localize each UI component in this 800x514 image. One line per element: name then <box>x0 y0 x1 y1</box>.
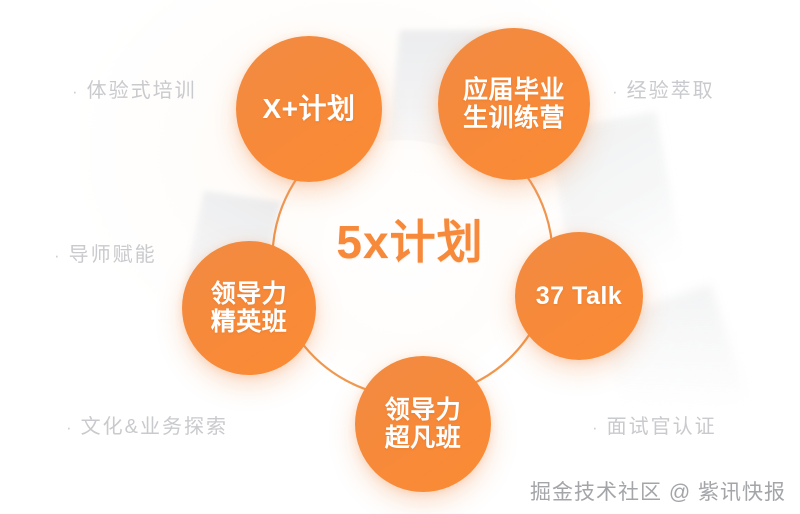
outer-label-culture-business-exploration: ·文化&业务探索 <box>66 410 228 439</box>
outer-label-interviewer-certification: ·面试官认证 <box>592 410 717 439</box>
center-title: 5x计划 <box>320 206 500 272</box>
node-x-plan-label: X+计划 <box>256 93 361 124</box>
bullet-dot-icon: · <box>592 418 600 437</box>
bullet-dot-icon: · <box>54 246 62 265</box>
watermark: 掘金技术社区 @ 紫讯快报 <box>530 476 786 506</box>
node-x-plan[interactable]: X+计划 <box>236 36 382 182</box>
diagram-canvas: X+计划 应届毕业生训练营 领导力精英班 37 Talk 领导力超凡班 5x计划… <box>0 0 800 514</box>
node-37-talk[interactable]: 37 Talk <box>515 232 643 360</box>
bullet-dot-icon: · <box>66 418 74 437</box>
outer-label-experience-extraction-text: 经验萃取 <box>627 80 715 102</box>
outer-label-experiential-training-text: 体验式培训 <box>87 80 197 102</box>
outer-label-experiential-training: ·体验式培训 <box>72 74 197 103</box>
bullet-dot-icon: · <box>72 82 80 101</box>
outer-label-experience-extraction: ·经验萃取 <box>612 74 715 103</box>
bullet-dot-icon: · <box>612 82 620 101</box>
node-leadership-elite-label: 领导力精英班 <box>205 280 294 336</box>
node-graduate-bootcamp-label: 应届毕业生训练营 <box>457 76 571 132</box>
node-leadership-extraordinary-label: 领导力超凡班 <box>379 396 468 452</box>
node-leadership-extraordinary[interactable]: 领导力超凡班 <box>355 356 491 492</box>
node-graduate-bootcamp[interactable]: 应届毕业生训练营 <box>438 28 590 180</box>
outer-label-culture-business-exploration-text: 文化&业务探索 <box>81 416 228 438</box>
node-leadership-elite[interactable]: 领导力精英班 <box>182 241 316 375</box>
outer-label-mentor-empowerment: ·导师赋能 <box>54 238 157 267</box>
outer-label-mentor-empowerment-text: 导师赋能 <box>69 244 157 266</box>
node-37-talk-label: 37 Talk <box>530 282 628 310</box>
outer-label-interviewer-certification-text: 面试官认证 <box>607 416 717 438</box>
